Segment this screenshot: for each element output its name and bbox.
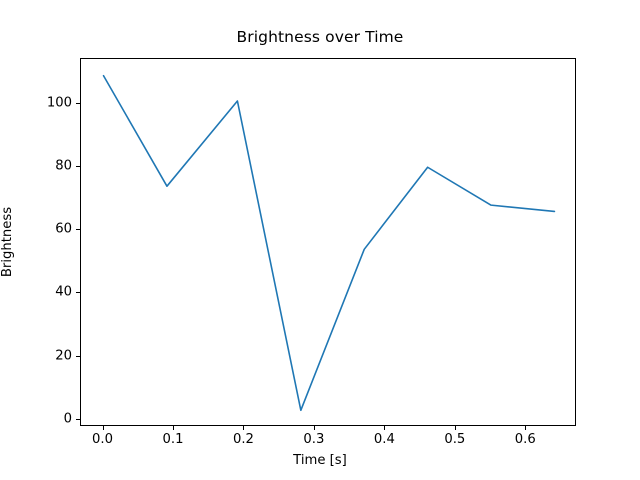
x-tick-mark	[103, 426, 104, 430]
x-tick-label: 0.5	[444, 432, 465, 447]
x-tick-mark	[173, 426, 174, 430]
x-tick-label: 0.6	[515, 432, 536, 447]
x-tick-mark	[455, 426, 456, 430]
x-axis-label: Time [s]	[0, 453, 640, 468]
plot-area	[80, 58, 576, 426]
y-tick-label: 100	[47, 96, 72, 111]
y-tick-label: 20	[55, 348, 72, 363]
x-tick-label: 0.3	[303, 432, 324, 447]
y-tick-label: 0	[64, 411, 72, 426]
y-tick-label: 60	[55, 222, 72, 237]
x-tick-mark	[384, 426, 385, 430]
x-tick-mark	[525, 426, 526, 430]
series-brightness-line	[104, 76, 555, 411]
x-tick-mark	[314, 426, 315, 430]
x-tick-label: 0.0	[92, 432, 113, 447]
y-tick-label: 80	[55, 159, 72, 174]
x-tick-mark	[243, 426, 244, 430]
chart-title: Brightness over Time	[0, 28, 640, 46]
x-tick-label: 0.1	[163, 432, 184, 447]
y-tick-label: 40	[55, 285, 72, 300]
x-tick-label: 0.4	[374, 432, 395, 447]
x-tick-label: 0.2	[233, 432, 254, 447]
y-axis-label: Brightness	[0, 207, 15, 277]
figure-canvas: Brightness over Time Brightness 02040608…	[0, 0, 640, 480]
line-series-svg	[81, 59, 576, 426]
